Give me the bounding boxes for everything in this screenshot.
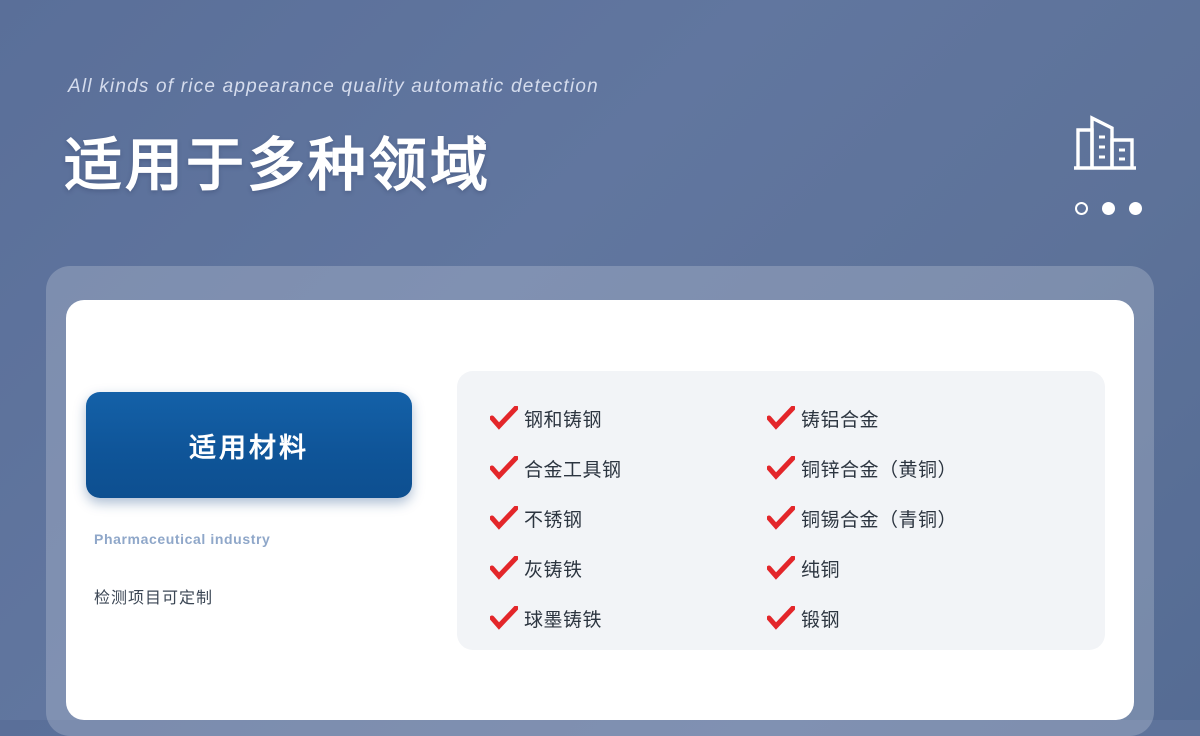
pharmaceutical-industry-label: Pharmaceutical industry <box>94 531 416 547</box>
list-item: 铜锡合金（青铜） <box>767 493 1105 543</box>
check-icon <box>767 606 801 630</box>
material-label: 球墨铸铁 <box>524 605 602 632</box>
header-subtitle-en: All kinds of rice appearance quality aut… <box>68 76 599 98</box>
list-item: 钢和铸钢 <box>490 393 757 443</box>
carousel-dot-2[interactable] <box>1102 202 1115 215</box>
check-icon <box>767 406 801 430</box>
carousel-dot-1[interactable] <box>1075 202 1088 215</box>
material-label: 纯铜 <box>801 555 840 582</box>
check-icon <box>767 556 801 580</box>
check-icon <box>490 556 524 580</box>
check-icon <box>490 506 524 530</box>
materials-column-1: 钢和铸钢 合金工具钢 不锈钢 灰铸铁 球墨铸铁 <box>457 371 757 650</box>
material-label: 锻钢 <box>801 605 840 632</box>
check-icon <box>490 606 524 630</box>
materials-column-2: 铸铝合金 铜锌合金（黄铜） 铜锡合金（青铜） 纯铜 锻钢 <box>757 371 1105 650</box>
left-column: 适用材料 Pharmaceutical industry 检测项目可定制 <box>86 392 416 608</box>
material-label: 不锈钢 <box>524 505 583 532</box>
material-label: 铜锡合金（青铜） <box>801 505 957 532</box>
carousel-dots[interactable] <box>1075 202 1142 215</box>
page-header: All kinds of rice appearance quality aut… <box>0 0 1200 265</box>
list-item: 不锈钢 <box>490 493 757 543</box>
list-item: 合金工具钢 <box>490 443 757 493</box>
materials-list-panel: 钢和铸钢 合金工具钢 不锈钢 灰铸铁 球墨铸铁 铸铝合金 铜锌合金（黄铜） <box>457 371 1105 650</box>
check-icon <box>767 506 801 530</box>
carousel-dot-3[interactable] <box>1129 202 1142 215</box>
material-label: 灰铸铁 <box>524 555 583 582</box>
check-icon <box>490 456 524 480</box>
list-item: 灰铸铁 <box>490 543 757 593</box>
customizable-items-note: 检测项目可定制 <box>94 584 416 608</box>
page-title: 适用于多种领域 <box>64 118 491 202</box>
list-item: 纯铜 <box>767 543 1105 593</box>
material-label: 铜锌合金（黄铜） <box>801 455 957 482</box>
material-label: 钢和铸钢 <box>524 405 602 432</box>
list-item: 铸铝合金 <box>767 393 1105 443</box>
list-item: 铜锌合金（黄铜） <box>767 443 1105 493</box>
building-icon <box>1072 110 1138 172</box>
material-label: 铸铝合金 <box>801 405 879 432</box>
list-item: 球墨铸铁 <box>490 593 757 643</box>
check-icon <box>767 456 801 480</box>
list-item: 锻钢 <box>767 593 1105 643</box>
check-icon <box>490 406 524 430</box>
applicable-materials-button[interactable]: 适用材料 <box>86 392 412 498</box>
material-label: 合金工具钢 <box>524 455 622 482</box>
